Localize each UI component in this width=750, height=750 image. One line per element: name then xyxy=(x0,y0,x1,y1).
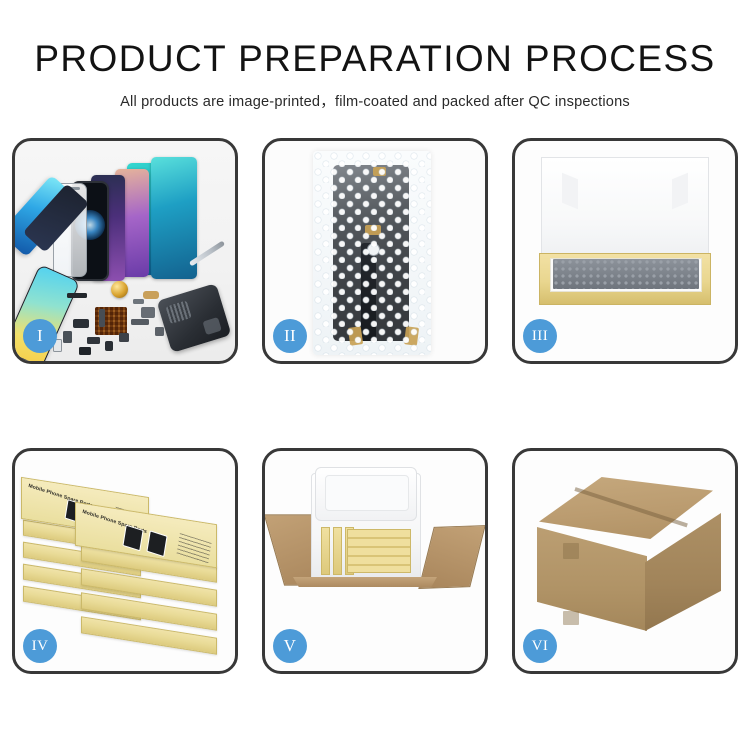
spare-part xyxy=(119,333,129,342)
step-panel-1: I xyxy=(12,138,238,364)
carton-front-face xyxy=(537,527,647,631)
retail-boxes-horizontal xyxy=(347,529,411,573)
foam-lid-recess xyxy=(325,475,409,511)
header: PRODUCT PREPARATION PROCESS All products… xyxy=(0,0,750,111)
page-subtitle: All products are image-printed，film-coat… xyxy=(0,90,750,111)
retail-box-vertical xyxy=(321,527,330,575)
spare-part xyxy=(143,291,159,299)
carton-top-face xyxy=(539,477,713,539)
process-steps-grid: I II xyxy=(12,138,738,674)
step-badge-6: VI xyxy=(523,629,557,663)
spare-part xyxy=(99,309,105,327)
spare-part xyxy=(79,347,91,355)
spare-part xyxy=(73,319,89,328)
step-panel-6: VI xyxy=(512,448,738,674)
spare-part xyxy=(87,337,100,344)
step-panel-2: II xyxy=(262,138,488,364)
foam-lid xyxy=(315,467,417,521)
spare-part xyxy=(131,319,149,325)
step-badge-2: II xyxy=(273,319,307,353)
step-badge-3: III xyxy=(523,319,557,353)
step-badge-1: I xyxy=(23,319,57,353)
retail-box-vertical xyxy=(333,527,342,575)
step-panel-5: V xyxy=(262,448,488,674)
carton-tape-patch xyxy=(563,543,579,559)
gold-coil-part xyxy=(111,281,128,298)
product-preparation-infographic: PRODUCT PREPARATION PROCESS All products… xyxy=(0,0,750,750)
protective-foam xyxy=(553,259,699,289)
phone-back-housing xyxy=(156,283,231,353)
spare-part xyxy=(67,293,87,298)
step-panel-4: Mobile Phone Spare Parts Mobile Phone Sp… xyxy=(12,448,238,674)
spare-part xyxy=(105,341,113,351)
lid-flap-right xyxy=(672,173,688,209)
spare-part xyxy=(133,299,144,304)
bubble-wrap-bag xyxy=(313,151,431,355)
step-panel-3: III xyxy=(512,138,738,364)
page-title: PRODUCT PREPARATION PROCESS xyxy=(0,40,750,79)
lid-flap-left xyxy=(562,173,578,209)
spare-part xyxy=(141,307,155,318)
step-badge-4: IV xyxy=(23,629,57,663)
carton-tape-patch xyxy=(563,611,579,625)
spare-part xyxy=(63,331,72,343)
bubble-texture xyxy=(313,151,431,355)
step-badge-5: V xyxy=(273,629,307,663)
carton-body xyxy=(299,581,431,647)
spare-part xyxy=(155,327,164,336)
